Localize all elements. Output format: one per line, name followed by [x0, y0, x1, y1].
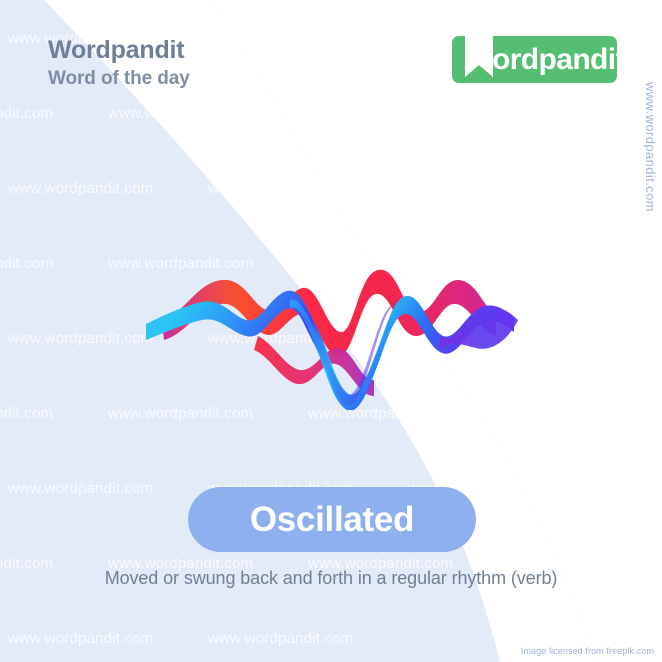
word-label: Oscillated — [250, 502, 414, 537]
sound-wave-illustration — [140, 240, 520, 410]
page-title: Wordpandit — [48, 36, 190, 65]
page-subtitle: Word of the day — [48, 68, 190, 91]
word-pill: Oscillated — [188, 487, 476, 552]
header: Wordpandit Word of the day — [48, 36, 190, 91]
bookmark-icon — [465, 27, 493, 83]
logo-label: ordpandit — [492, 45, 625, 75]
definition-text: Moved or swung back and forth in a regul… — [0, 568, 662, 589]
vertical-watermark: www.wordpandit.com — [643, 82, 658, 212]
wordpandit-logo[interactable]: ordpandit — [452, 36, 617, 83]
word-of-the-day-card: www.wordpandit.com www.wordpandit.com ww… — [0, 0, 662, 662]
image-credit: Image licensed from freepik.com — [521, 646, 654, 656]
